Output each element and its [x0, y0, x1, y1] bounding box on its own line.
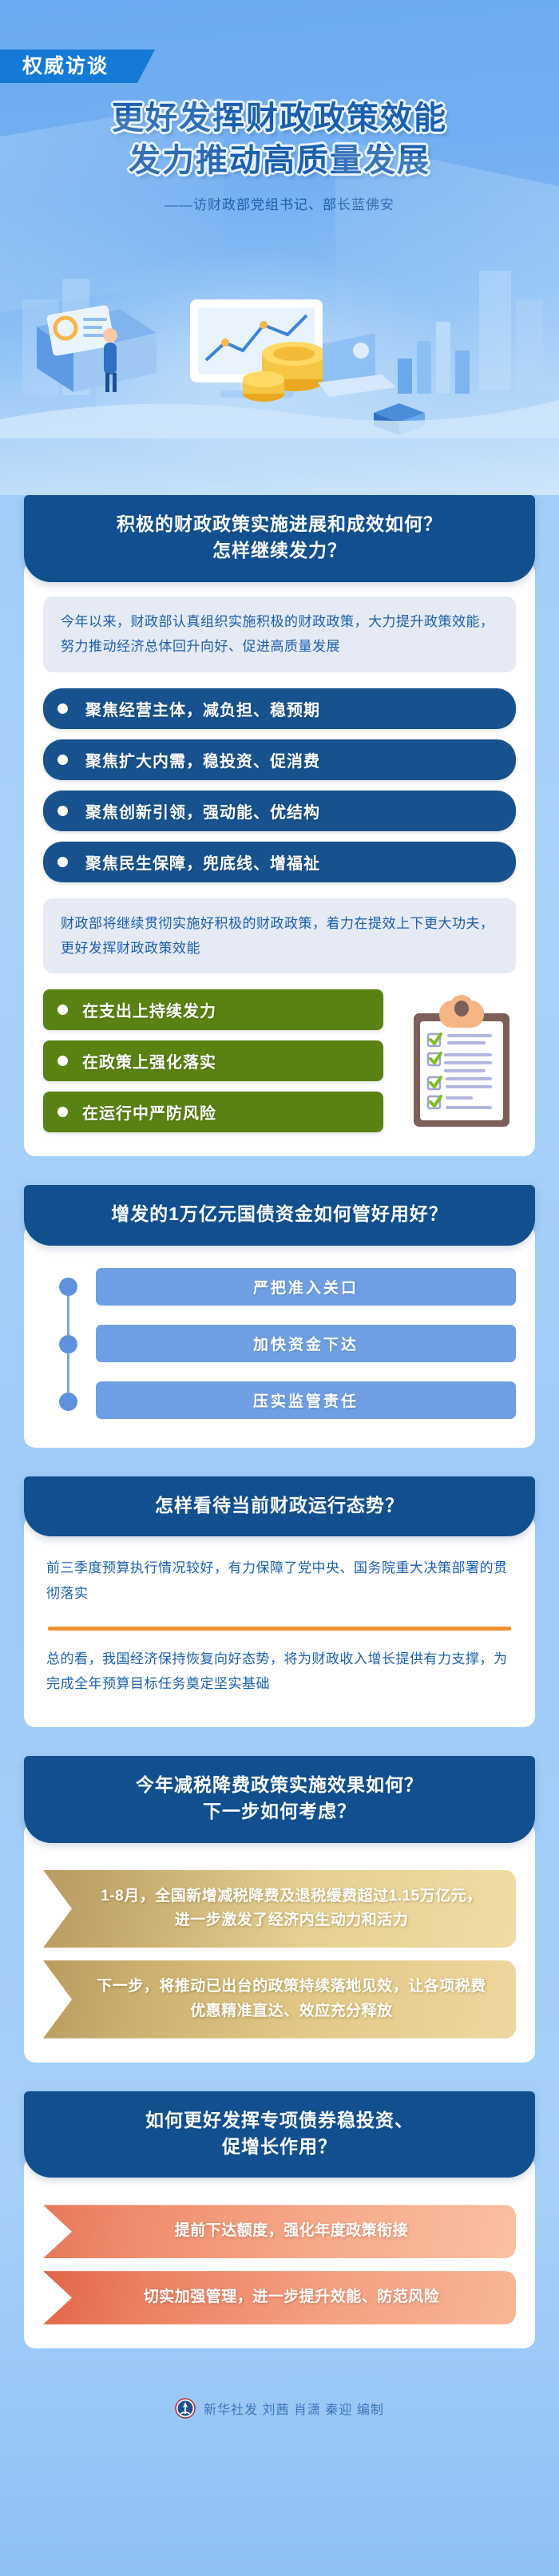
section-fiscal-policy-progress: 积极的财政政策实施进展和成效如何？ 怎样继续发力？ 今年以来，财政部认真组织实施…	[24, 495, 535, 1156]
list-item-label: 聚焦民生保障，兜底线、增福祉	[85, 850, 320, 874]
list-item-label: 聚焦扩大内需，稳投资、促消费	[85, 748, 320, 771]
clipboard-checklist-icon	[409, 994, 514, 1134]
timeline-rail	[43, 1268, 96, 1419]
list-item[interactable]: 在政策上强化落实	[43, 1040, 383, 1081]
authority-badge-container: 权威访谈	[0, 50, 559, 83]
bullet-dot-icon	[57, 703, 68, 714]
timeline-item-2[interactable]: 加快资金下达	[96, 1325, 516, 1362]
list-item[interactable]: 聚焦扩大内需，稳投资、促消费	[43, 739, 516, 780]
xinhua-logo-icon	[175, 2398, 196, 2419]
bullet-dot-icon	[57, 1056, 68, 1066]
footer-credit-bar: 新华社发 刘茜 肖潇 秦迎 编制	[0, 2377, 559, 2446]
list-item[interactable]: 聚焦经营主体，减负担、稳预期	[43, 688, 516, 729]
bullet-dot-icon	[57, 857, 68, 867]
section-5-body: 提前下达额度，强化年度政策衔接 切实加强管理，进一步提升效能、防范风险	[24, 2157, 535, 2348]
section-1-green-block: 在支出上持续发力 在政策上强化落实 在运行中严防风险	[43, 989, 516, 1132]
section-4-heading: 今年减税降费政策实施效果如何？ 下一步如何考虑？	[24, 1756, 535, 1843]
section-4-ribbon-list: 1-8月，全国新增减税降费及退税缓费超过1.15万亿元，进一步激发了经济内生动力…	[43, 1870, 516, 2039]
section-5-heading: 如何更好发挥专项债券稳投资、 促增长作用？	[24, 2091, 535, 2178]
list-item-label: 聚焦经营主体，减负担、稳预期	[85, 697, 320, 720]
section-4-heading-line-1: 今年减税降费政策实施效果如何？	[45, 1772, 514, 1798]
footer-credit-text: 新华社发 刘茜 肖潇 秦迎 编制	[204, 2399, 384, 2418]
list-item-label: 在支出上持续发力	[82, 998, 216, 1021]
list-item[interactable]: 聚焦民生保障，兜底线、增福祉	[43, 842, 516, 882]
page-title-line-1: 更好发挥财政政策效能	[0, 97, 559, 140]
section-3-paragraph-2: 总的看，我国经济保持恢复向好态势，将为财政收入增长提供有力支撑，为完成全年预算目…	[43, 1642, 516, 1703]
section-2-heading-line-1: 增发的1万亿元国债资金如何管好用好？	[45, 1201, 514, 1227]
bullet-dot-icon	[57, 755, 68, 765]
section-4-body: 1-8月，全国新增减税降费及退税缓费超过1.15万亿元，进一步激发了经济内生动力…	[24, 1822, 535, 2063]
bullet-dot-icon	[57, 1107, 68, 1117]
section-1-heading-line-1: 积极的财政政策实施进展和成效如何？	[45, 511, 514, 537]
list-item-label: 在运行中严防风险	[82, 1100, 216, 1124]
page-title: 更好发挥财政政策效能 发力推动高质量发展	[0, 97, 559, 182]
section-3-heading-line-1: 怎样看待当前财政运行态势？	[45, 1492, 514, 1519]
attribution-line: ——访财政部党组书记、部长蓝佛安	[0, 193, 559, 213]
timeline-item-1[interactable]: 严把准入关口	[96, 1268, 516, 1306]
section-3-heading: 怎样看待当前财政运行态势？	[24, 1476, 535, 1536]
hero-illustration	[0, 223, 559, 438]
section-1-body: 今年以来，财政部认真组织实施积极的财政政策，大力提升政策效能，努力推动经济总体回…	[24, 561, 535, 1157]
chevron-right-icon-2	[126, 51, 144, 81]
section-1-blue-pill-list: 聚焦经营主体，减负担、稳预期 聚焦扩大内需，稳投资、促消费 聚焦创新引领，强动能…	[43, 688, 516, 882]
orange-divider	[48, 1627, 511, 1631]
bullet-dot-icon	[57, 1005, 68, 1015]
ribbon-item-2[interactable]: 下一步，将推动已出台的政策持续落地见效，让各项税费优惠精准直达、效应充分释放	[43, 1960, 516, 2039]
section-special-bonds: 如何更好发挥专项债券稳投资、 促增长作用？ 提前下达额度，强化年度政策衔接 切实…	[24, 2091, 535, 2348]
section-trillion-bond-funds: 增发的1万亿元国债资金如何管好用好？ 严把准入关口 加快资金下达 压实监管责任	[24, 1185, 535, 1447]
laptop-illustration	[318, 333, 396, 397]
section-1-heading: 积极的财政政策实施进展和成效如何？ 怎样继续发力？	[24, 495, 535, 582]
timeline-buttons: 严把准入关口 加快资金下达 压实监管责任	[96, 1268, 516, 1419]
ribbon-item-1[interactable]: 提前下达额度，强化年度政策衔接	[43, 2205, 516, 2258]
section-2-heading: 增发的1万亿元国债资金如何管好用好？	[24, 1185, 535, 1245]
section-1-green-pill-list: 在支出上持续发力 在政策上强化落实 在运行中严防风险	[43, 989, 383, 1132]
section-3-body: 前三季度预算执行情况较好，有力保障了党中央、国务院重大决策部署的贯彻落实 总的看…	[24, 1516, 535, 1727]
ribbon-item-1[interactable]: 1-8月，全国新增减税降费及退税缓费超过1.15万亿元，进一步激发了经济内生动力…	[43, 1870, 516, 1948]
bar-chart-illustration	[398, 322, 470, 394]
infographic-page: 权威访谈 更好发挥财政政策效能 发力推动高质量发展 ——访财政部党组书记、部长蓝…	[0, 0, 559, 2576]
list-item[interactable]: 在支出上持续发力	[43, 989, 383, 1030]
list-item-label: 聚焦创新引领，强动能、优结构	[85, 799, 320, 822]
timeline-node	[59, 1278, 77, 1296]
page-title-line-2: 发力推动高质量发展	[0, 140, 559, 182]
section-5-heading-line-1: 如何更好发挥专项债券稳投资、	[45, 2107, 514, 2134]
list-item-label: 在政策上强化落实	[82, 1049, 216, 1072]
timeline-node	[59, 1393, 77, 1411]
tablet-illustration	[37, 304, 157, 392]
timeline-node	[59, 1335, 77, 1353]
section-1-heading-line-2: 怎样继续发力？	[45, 537, 514, 564]
section-3-paragraph-1: 前三季度预算执行情况较好，有力保障了党中央、国务院重大决策部署的贯彻落实	[43, 1551, 516, 1612]
hero-banner: 权威访谈 更好发挥财政政策效能 发力推动高质量发展 ——访财政部党组书记、部长蓝…	[0, 0, 559, 495]
section-1-paragraph-2: 财政部将继续贯彻实施好积极的财政政策，着力在提效上下更大功夫，更好发挥财政政策效…	[43, 898, 516, 974]
section-1-paragraph-1: 今年以来，财政部认真组织实施积极的财政政策，大力提升政策效能，努力推动经济总体回…	[43, 596, 516, 672]
section-fiscal-operation-trend: 怎样看待当前财政运行态势？ 前三季度预算执行情况较好，有力保障了党中央、国务院重…	[24, 1476, 535, 1727]
section-2-timeline: 严把准入关口 加快资金下达 压实监管责任	[43, 1260, 516, 1424]
section-5-heading-line-2: 促增长作用？	[45, 2134, 514, 2160]
timeline-item-3[interactable]: 压实监管责任	[96, 1381, 516, 1419]
list-item[interactable]: 聚焦创新引领，强动能、优结构	[43, 791, 516, 831]
section-2-body: 严把准入关口 加快资金下达 压实监管责任	[24, 1225, 535, 1448]
timeline-nodes	[59, 1268, 77, 1419]
section-tax-fee-reduction: 今年减税降费政策实施效果如何？ 下一步如何考虑？ 1-8月，全国新增减税降费及退…	[24, 1756, 535, 2063]
bullet-dot-icon	[57, 806, 68, 816]
section-5-ribbon-list: 提前下达额度，强化年度政策衔接 切实加强管理，进一步提升效能、防范风险	[43, 2205, 516, 2324]
list-item[interactable]: 在运行中严防风险	[43, 1092, 383, 1132]
chevron-right-icon	[109, 51, 126, 81]
section-4-heading-line-2: 下一步如何考虑？	[45, 1798, 514, 1825]
ribbon-item-2[interactable]: 切实加强管理，进一步提升效能、防范风险	[43, 2271, 516, 2324]
